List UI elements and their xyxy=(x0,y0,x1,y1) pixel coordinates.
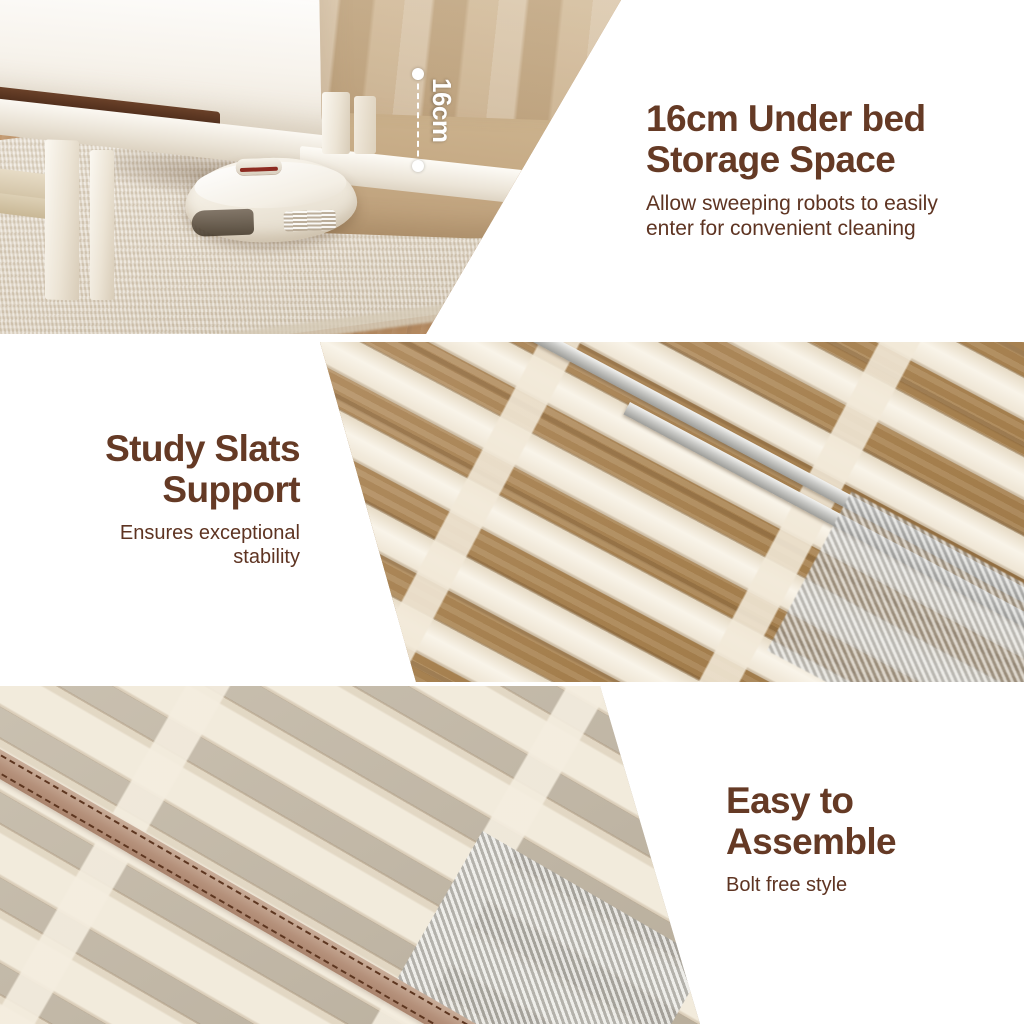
feature-subtext: Allow sweeping robots to easily enter fo… xyxy=(646,191,1006,242)
bed-leg-front xyxy=(45,139,79,300)
height-dimension-annotation: 16cm xyxy=(412,68,424,172)
feature-subtext-line-1: Ensures exceptional xyxy=(42,521,300,545)
bed-leg-rear xyxy=(322,92,350,154)
feature-heading: 16cm Under bed Storage Space xyxy=(646,98,1006,181)
feature-subtext-line-1: Allow sweeping robots to easily xyxy=(646,191,1006,217)
bed-frame xyxy=(0,0,530,300)
feature-photo-sturdy-slats xyxy=(300,342,1024,682)
feature-heading: Easy to Assemble xyxy=(726,780,1016,863)
feature-heading-line-1: Study Slats xyxy=(42,428,300,469)
feature-text-sturdy-slats: Study Slats Support Ensures exceptional … xyxy=(42,428,300,570)
slats-photo xyxy=(300,342,1024,682)
robot-vacuum xyxy=(184,155,359,245)
feature-heading-line-2: Storage Space xyxy=(646,139,1006,180)
bed-leg-rear-inner xyxy=(354,96,376,154)
infographic-canvas: 16cm 16cm Under bed Storage Space xyxy=(0,0,1024,1024)
feature-subtext-line-1: Bolt free style xyxy=(726,873,1016,897)
feature-photo-easy-assemble xyxy=(0,686,720,1024)
feature-text-under-bed-storage: 16cm Under bed Storage Space Allow sweep… xyxy=(646,98,1006,242)
feature-heading-line-1: Easy to xyxy=(726,780,1016,821)
feature-subtext-line-2: stability xyxy=(42,545,300,569)
dimension-dot-bottom-icon xyxy=(412,160,424,172)
feature-subtext: Ensures exceptional stability xyxy=(42,521,300,570)
dimension-dashed-line-icon xyxy=(417,74,419,166)
robot-vacuum-lidar-icon xyxy=(236,158,283,176)
bed-leg-front-inner xyxy=(90,150,114,300)
feature-subtext: Bolt free style xyxy=(726,873,1016,897)
feature-photo-under-bed-storage: 16cm xyxy=(0,0,700,334)
dimension-label: 16cm xyxy=(426,78,457,143)
robot-vacuum-vent xyxy=(283,210,336,232)
feature-heading-line-2: Assemble xyxy=(726,821,1016,862)
feature-heading-line-2: Support xyxy=(42,469,300,510)
assembly-photo xyxy=(0,686,720,1024)
feature-subtext-line-2: enter for convenient cleaning xyxy=(646,216,1006,242)
feature-heading-line-1: 16cm Under bed xyxy=(646,98,1006,139)
feature-heading: Study Slats Support xyxy=(42,428,300,511)
bedroom-photo: 16cm xyxy=(0,0,700,334)
feature-text-easy-assemble: Easy to Assemble Bolt free style xyxy=(726,780,1016,897)
robot-vacuum-bumper xyxy=(191,209,254,237)
